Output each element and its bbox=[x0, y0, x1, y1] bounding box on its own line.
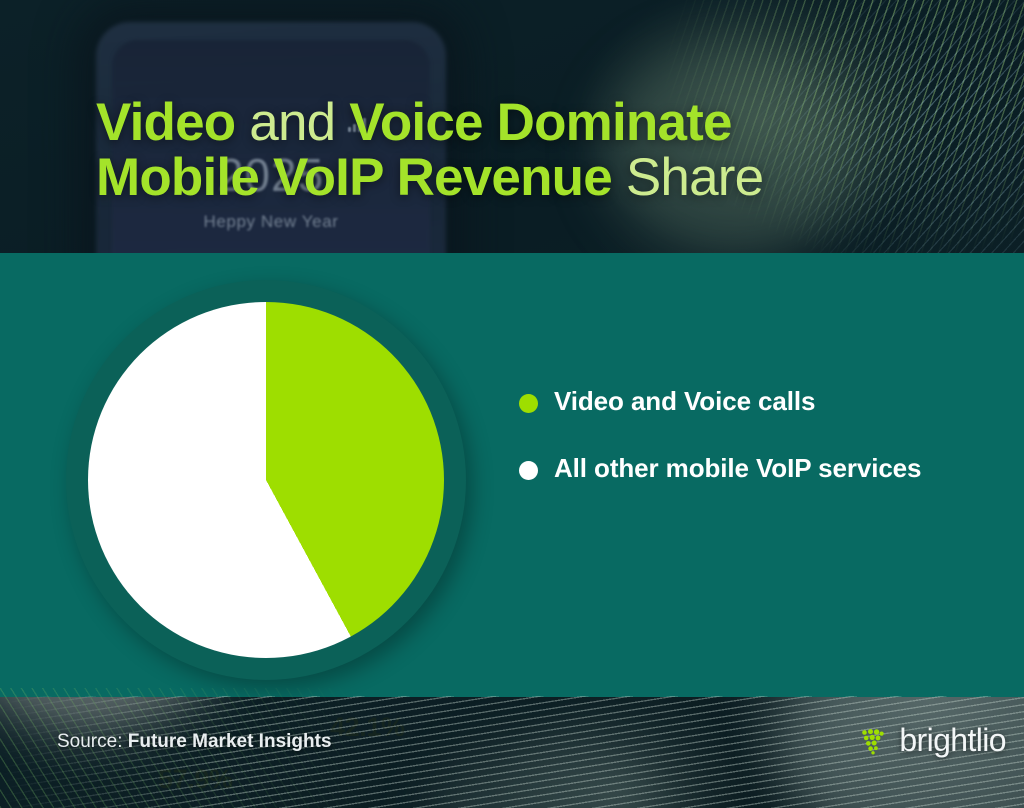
chart-legend: Video and Voice calls All other mobile V… bbox=[519, 385, 969, 520]
title-words-mobile-voip-revenue: Mobile VoIP Revenue bbox=[96, 148, 612, 207]
dot-cluster-icon bbox=[859, 726, 889, 756]
legend-label-other-services: All other mobile VoIP services bbox=[554, 452, 921, 485]
title-words-voice-dominate: Voice Dominate bbox=[349, 93, 731, 152]
title-word-video: Video bbox=[96, 93, 235, 152]
pie-chart-slices bbox=[88, 302, 444, 658]
pie-chart: 42.1% 57.9% bbox=[58, 272, 506, 676]
title-word-and: and bbox=[235, 93, 349, 152]
title-line-2: Mobile VoIP Revenue Share bbox=[96, 151, 926, 206]
title-line-1: Video and Voice Dominate bbox=[96, 96, 926, 151]
legend-label-video-voice: Video and Voice calls bbox=[554, 385, 815, 418]
brand-logo[interactable]: brightlio bbox=[859, 722, 1006, 759]
infographic-canvas: 2025 Heppy New Year Video and Voice Domi… bbox=[0, 0, 1024, 808]
title-word-share: Share bbox=[612, 148, 763, 207]
source-name: Future Market Insights bbox=[128, 731, 332, 752]
page-title: Video and Voice Dominate Mobile VoIP Rev… bbox=[96, 96, 926, 205]
legend-item-video-voice[interactable]: Video and Voice calls bbox=[519, 385, 969, 418]
brand-name: brightlio bbox=[899, 722, 1006, 759]
legend-dot-green-icon bbox=[519, 394, 538, 413]
source-attribution: Source: Future Market Insights bbox=[57, 731, 332, 753]
legend-dot-white-icon bbox=[519, 461, 538, 480]
source-label: Source: bbox=[57, 731, 122, 752]
legend-item-other-services[interactable]: All other mobile VoIP services bbox=[519, 452, 969, 485]
